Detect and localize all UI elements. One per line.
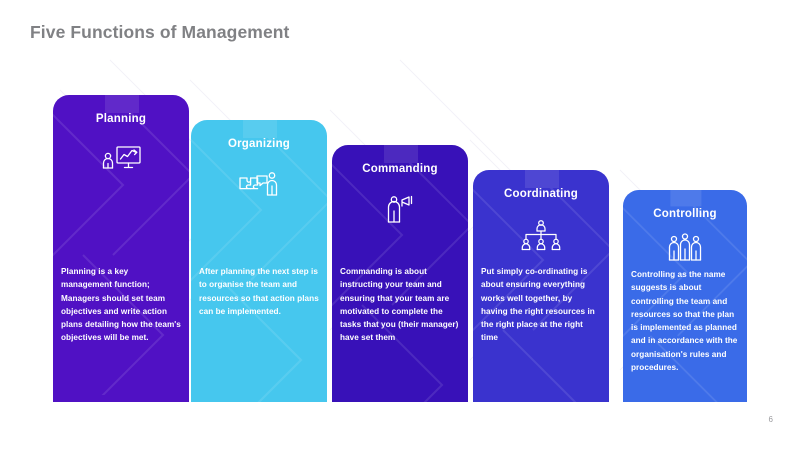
function-card-planning[interactable]: Planning Planning is a key management fu… xyxy=(53,95,189,402)
presentation-chart-person-icon xyxy=(53,144,189,176)
card-content: Coordinating Put simply co-ordinating is… xyxy=(473,170,609,402)
function-cards-container: Planning Planning is a key management fu… xyxy=(0,0,800,450)
card-title-controlling: Controlling xyxy=(629,208,741,222)
card-body-coordinating: Put simply co-ordinating is about ensuri… xyxy=(479,265,603,345)
card-body-controlling: Controlling as the name suggests is abou… xyxy=(629,268,741,374)
card-content: Commanding Commanding is about instructi… xyxy=(332,145,468,402)
card-title-organizing: Organizing xyxy=(197,138,321,152)
card-content: Organizing After planning the next step … xyxy=(191,120,327,402)
card-content: Controlling Controlling as the name sugg… xyxy=(623,190,747,402)
card-title-planning: Planning xyxy=(59,113,183,127)
card-title-coordinating: Coordinating xyxy=(479,188,603,202)
function-card-controlling[interactable]: Controlling Controlling as the name sugg… xyxy=(623,190,747,402)
org-chart-people-icon xyxy=(473,219,609,252)
puzzle-person-icon xyxy=(191,169,327,201)
function-card-commanding[interactable]: Commanding Commanding is about instructi… xyxy=(332,145,468,402)
card-body-planning: Planning is a key management function; M… xyxy=(59,265,183,345)
card-body-organizing: After planning the next step is to organ… xyxy=(197,265,321,318)
card-body-commanding: Commanding is about instructing your tea… xyxy=(338,265,462,345)
group-people-icon xyxy=(623,232,747,264)
function-card-coordinating[interactable]: Coordinating Put simply co-ordinating is… xyxy=(473,170,609,402)
page-number: 6 xyxy=(769,415,773,424)
person-megaphone-icon xyxy=(332,194,468,226)
card-title-commanding: Commanding xyxy=(338,163,462,177)
card-content: Planning Planning is a key management fu… xyxy=(53,95,189,402)
function-card-organizing[interactable]: Organizing After planning the next step … xyxy=(191,120,327,402)
